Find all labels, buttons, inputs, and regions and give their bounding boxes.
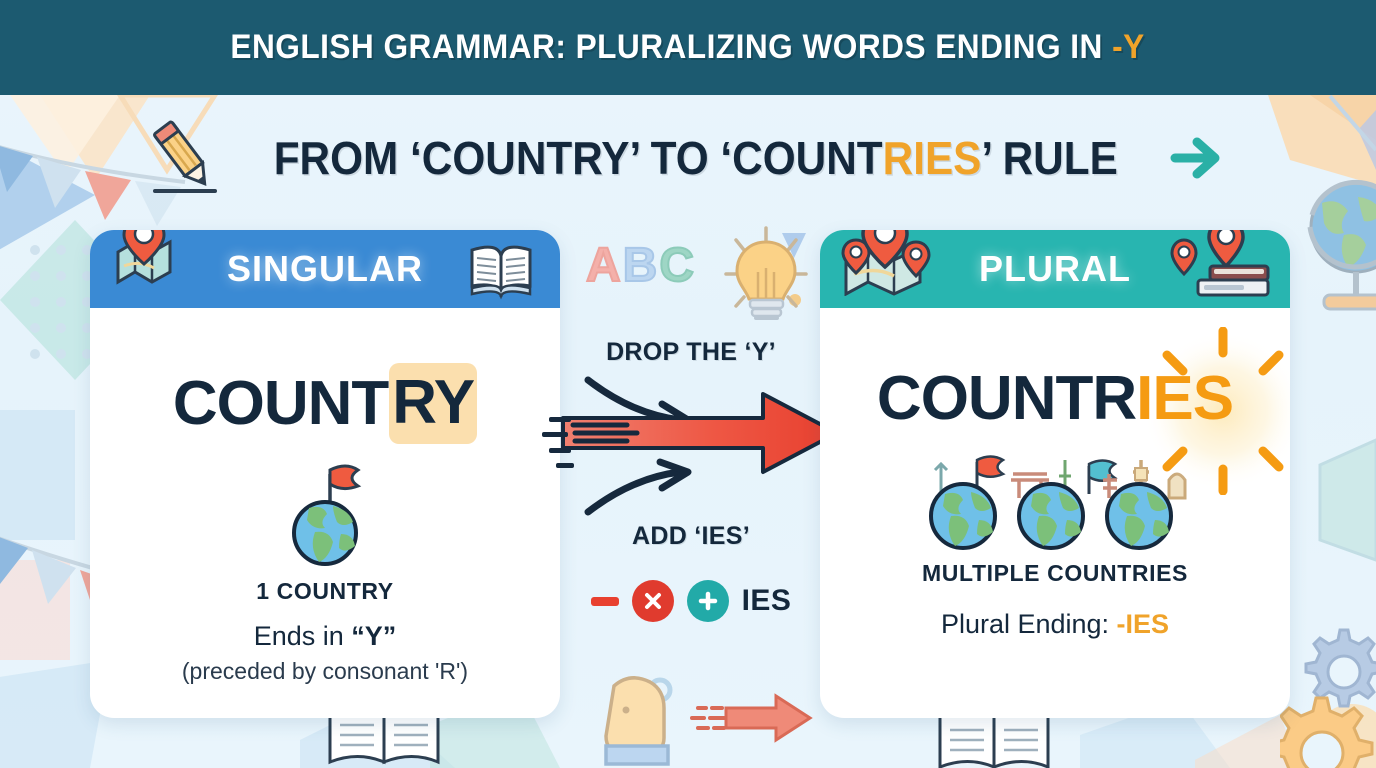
stacked-books-with-pins-icon: [1164, 230, 1276, 300]
singular-caption-strong: 1 COUNTRY: [256, 578, 393, 605]
label-drop-the-y: DROP THE ‘Y’: [560, 338, 822, 367]
card-singular: SINGULAR COUNTRY 1 COU: [90, 230, 560, 718]
arrow-right-icon: [1169, 130, 1231, 186]
pencil-icon: [145, 119, 223, 197]
page-title-highlight: -Y: [1113, 28, 1146, 66]
singular-word: COUNTRY: [173, 363, 477, 444]
plural-caption-line1-pre: Plural Ending:: [941, 609, 1117, 639]
singular-caption-line2: (preceded by consonant 'R'): [182, 658, 468, 685]
plural-caption-line1: Plural Ending: -IES: [941, 609, 1169, 640]
three-globes-with-landmarks-icon: [905, 446, 1205, 554]
card-plural-header: PLURAL: [820, 230, 1290, 308]
infographic-canvas: ABC: [0, 0, 1376, 768]
speed-tick: [549, 417, 571, 422]
card-singular-header: SINGULAR: [90, 230, 560, 308]
plural-word-plain: COUNTR: [877, 363, 1136, 434]
gear-icon: [1280, 620, 1376, 768]
speed-tick: [542, 432, 568, 437]
plural-caption-line1-bold: -IES: [1117, 609, 1170, 639]
map-multi-pin-icon: [838, 230, 948, 296]
open-book-icon: [468, 242, 534, 300]
label-add-ies: ADD ‘IES’: [560, 522, 822, 551]
add-circle-plus-icon[interactable]: [687, 580, 729, 622]
speed-tick: [556, 463, 574, 468]
page-title: ENGLISH GRAMMAR: PLURALIZING WORDS ENDIN…: [231, 28, 1145, 67]
big-red-arrow-icon: [545, 388, 845, 478]
operation-badges: IES: [560, 580, 822, 622]
singular-word-plain: COUNT: [173, 368, 388, 439]
card-plural: PLURAL: [820, 230, 1290, 718]
map-pin-icon: [110, 230, 184, 288]
add-ies-label: IES: [742, 584, 792, 618]
subtitle-row: FROM ‘COUNTRY’ TO ‘COUNTRIES’ RULE: [0, 108, 1376, 208]
header-banner: ENGLISH GRAMMAR: PLURALIZING WORDS ENDIN…: [0, 0, 1376, 95]
remove-circle-x-icon[interactable]: [632, 580, 674, 622]
globe-with-flag-icon: [275, 460, 375, 568]
plural-word-highlight: IES: [1136, 363, 1233, 434]
speed-tick: [549, 448, 571, 453]
singular-word-boxed: RY: [389, 363, 477, 444]
subtitle-highlight: RIES: [883, 132, 982, 184]
subtitle-before: FROM ‘COUNTRY’ TO ‘COUNT: [274, 132, 883, 184]
singular-caption-line1-bold: “Y”: [351, 621, 396, 651]
plural-caption-strong: MULTIPLE COUNTRIES: [922, 560, 1188, 587]
card-singular-title: SINGULAR: [227, 248, 423, 290]
plural-word: COUNTRIES: [877, 363, 1233, 434]
subtitle-after: ’ RULE: [982, 132, 1118, 184]
minus-dash-icon: [591, 597, 619, 606]
singular-caption-line1-pre: Ends in: [254, 621, 352, 651]
card-plural-title: PLURAL: [979, 248, 1131, 290]
singular-caption-line1: Ends in “Y”: [254, 621, 397, 652]
subtitle-text: FROM ‘COUNTRY’ TO ‘COUNTRIES’ RULE: [274, 131, 1118, 185]
page-title-main: ENGLISH GRAMMAR: PLURALIZING WORDS ENDIN…: [231, 28, 1113, 66]
